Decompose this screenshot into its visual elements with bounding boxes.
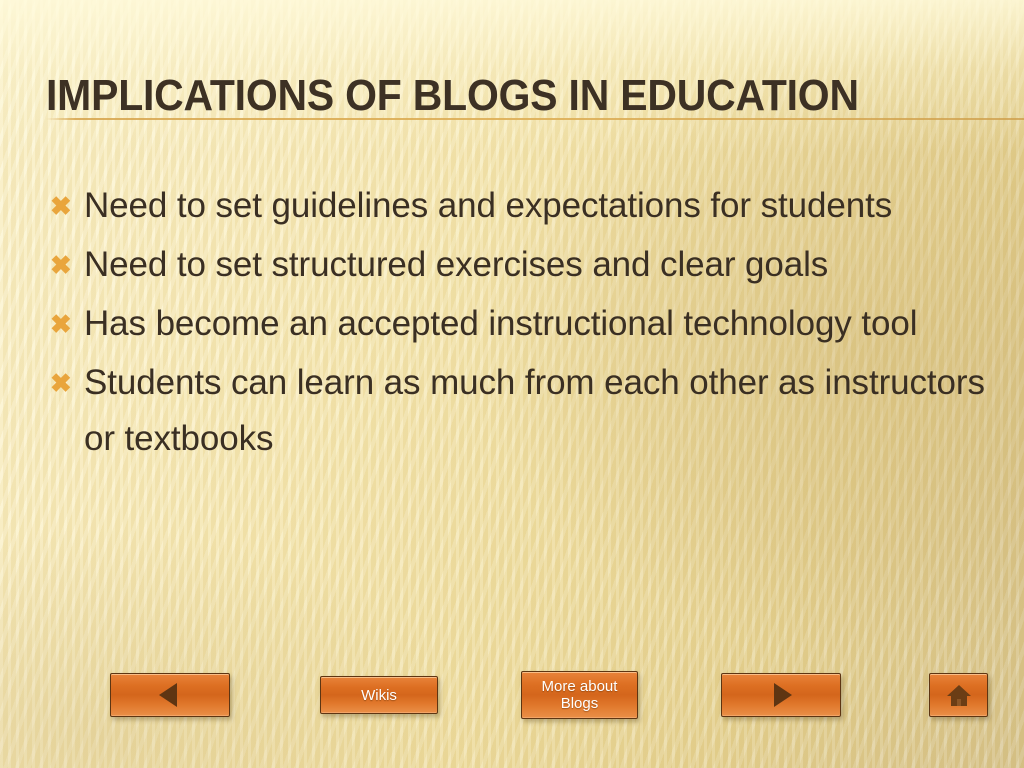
bullet-text: Students can learn as much from each oth… <box>84 355 1006 467</box>
next-button[interactable] <box>721 673 841 717</box>
bullet-text: Need to set structured exercises and cle… <box>84 237 1006 293</box>
bullet-text: Need to set guidelines and expectations … <box>84 178 1006 234</box>
more-about-blogs-button[interactable]: More about Blogs <box>521 671 638 719</box>
list-item: ✖ Students can learn as much from each o… <box>46 355 1006 467</box>
home-button[interactable] <box>929 673 988 717</box>
bullet-cross-icon: ✖ <box>46 237 84 293</box>
title-underline-rule <box>46 118 1024 120</box>
list-item: ✖ Need to set structured exercises and c… <box>46 237 1006 293</box>
list-item: ✖ Has become an accepted instructional t… <box>46 296 1006 352</box>
left-triangle-icon <box>153 678 187 712</box>
bullet-list: ✖ Need to set guidelines and expectation… <box>46 178 1006 470</box>
more-about-blogs-button-label: More about Blogs <box>542 678 618 712</box>
bullet-cross-icon: ✖ <box>46 296 84 352</box>
wikis-button[interactable]: Wikis <box>320 676 438 714</box>
previous-button[interactable] <box>110 673 230 717</box>
page-title: Implications of Blogs in Education <box>46 72 956 120</box>
list-item: ✖ Need to set guidelines and expectation… <box>46 178 1006 234</box>
slide-canvas: Implications of Blogs in Education ✖ Nee… <box>0 0 1024 768</box>
slide-navigation-bar: Wikis More about Blogs <box>0 668 1024 728</box>
right-triangle-icon <box>764 678 798 712</box>
bullet-cross-icon: ✖ <box>46 355 84 411</box>
bullet-text: Has become an accepted instructional tec… <box>84 296 1006 352</box>
wikis-button-label: Wikis <box>361 687 397 704</box>
title-block: Implications of Blogs in Education <box>46 72 1024 124</box>
bullet-cross-icon: ✖ <box>46 178 84 234</box>
house-icon <box>945 681 973 709</box>
